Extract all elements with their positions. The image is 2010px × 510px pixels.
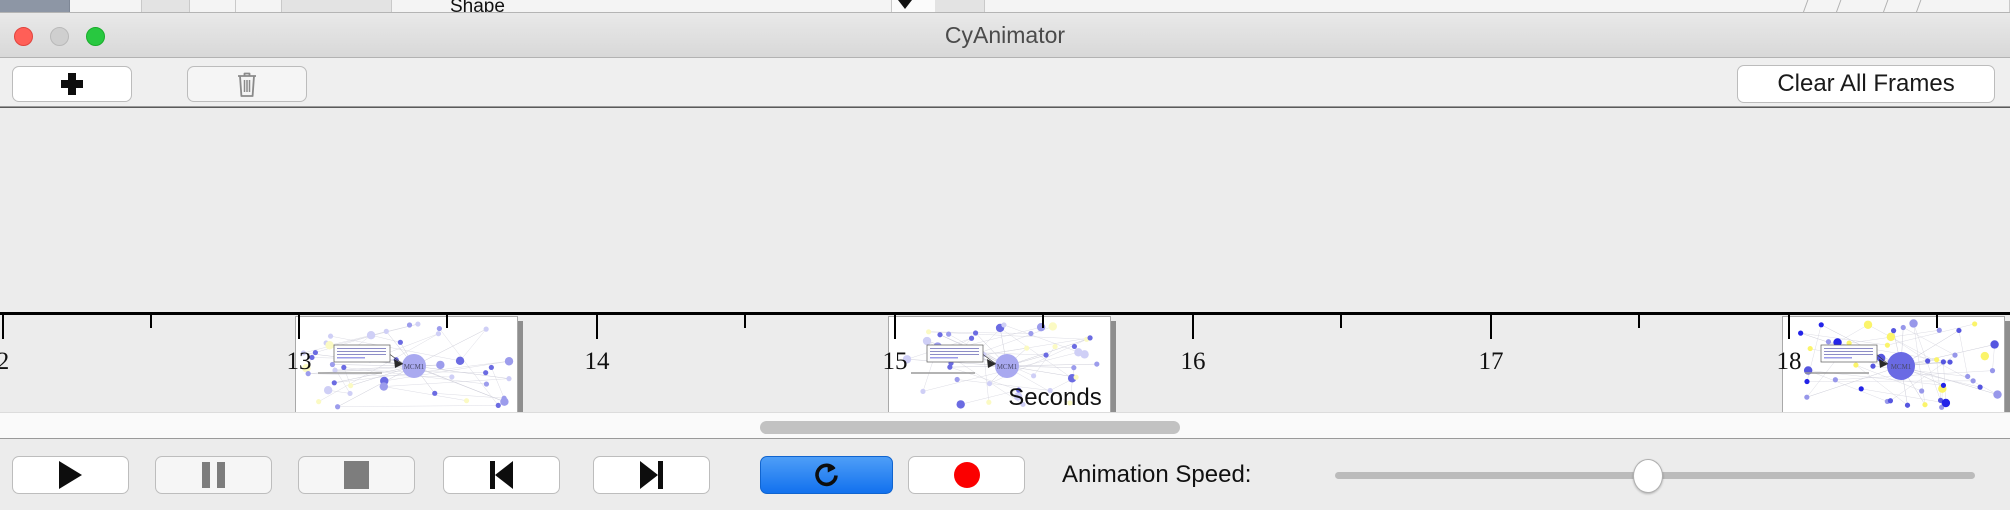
clear-all-frames-label: Clear All Frames	[1777, 70, 1954, 98]
axis-tick-label: 13	[287, 348, 312, 376]
record-button[interactable]	[908, 456, 1025, 494]
axis-title: Seconds	[0, 384, 2010, 412]
axis-tick	[1490, 315, 1492, 339]
stop-button[interactable]	[298, 456, 415, 494]
skip-next-icon	[640, 461, 663, 489]
bg-cell	[70, 0, 142, 13]
play-icon	[59, 461, 82, 489]
axis-tick	[150, 315, 152, 328]
axis-tick-label: 17	[1479, 348, 1504, 376]
timeline-axis	[0, 312, 2010, 315]
axis-tick	[446, 315, 448, 328]
axis-tick	[298, 315, 300, 339]
toolbar: Clear All Frames	[0, 58, 2010, 107]
axis-tick	[1788, 315, 1790, 339]
axis-tick-label: 2	[0, 348, 9, 376]
axis-tick	[1936, 315, 1938, 328]
axis-tick-label: 18	[1777, 348, 1802, 376]
loop-icon	[813, 460, 841, 490]
hub-node-label: MCM1	[404, 363, 425, 371]
bg-cell	[190, 0, 236, 13]
axis-tick-label: 14	[585, 348, 610, 376]
plus-icon	[61, 73, 83, 95]
window-title: CyAnimator	[0, 13, 2010, 58]
bg-sort-triangle-icon	[898, 0, 912, 9]
axis-tick	[1340, 315, 1342, 328]
play-button[interactable]	[12, 456, 129, 494]
stop-icon	[344, 461, 369, 489]
axis-tick	[2, 315, 4, 339]
background-window-sliver: Shape	[0, 0, 2010, 13]
pause-icon	[202, 462, 225, 488]
axis-tick	[596, 315, 598, 339]
skip-previous-icon	[490, 461, 513, 489]
clear-all-frames-button[interactable]: Clear All Frames	[1737, 65, 1995, 103]
title-bar: CyAnimator	[0, 13, 2010, 58]
bg-cell	[0, 0, 70, 13]
bg-cell	[236, 0, 282, 13]
pause-button[interactable]	[155, 456, 272, 494]
axis-tick	[744, 315, 746, 328]
hub-node-label: MCM1	[997, 363, 1018, 371]
bg-window-text: Shape	[450, 0, 505, 13]
hub-node-label: MCM1	[1891, 363, 1912, 371]
bg-cell	[985, 0, 2010, 13]
playback-controls: Animation Speed:	[0, 439, 2010, 510]
skip-previous-button[interactable]	[443, 456, 560, 494]
timeline-panel[interactable]: MCM1MCM1MCM1 2131415161718 Seconds	[0, 107, 2010, 412]
axis-tick	[894, 315, 896, 339]
bg-cell	[935, 0, 985, 13]
scrollbar-thumb[interactable]	[760, 421, 1180, 434]
delete-frame-button[interactable]	[187, 66, 307, 102]
axis-tick	[1192, 315, 1194, 339]
bg-cell	[282, 0, 392, 13]
skip-next-button[interactable]	[593, 456, 710, 494]
axis-tick	[1638, 315, 1640, 328]
record-icon	[954, 462, 980, 488]
bg-cell	[142, 0, 190, 13]
animation-speed-slider-thumb[interactable]	[1633, 459, 1663, 493]
loop-button[interactable]	[760, 456, 893, 494]
add-frame-button[interactable]	[12, 66, 132, 102]
axis-tick-label: 16	[1181, 348, 1206, 376]
axis-tick-label: 15	[883, 348, 908, 376]
animation-speed-label: Animation Speed:	[1062, 456, 1251, 494]
trash-icon	[235, 70, 259, 98]
timeline-scrollbar[interactable]	[0, 412, 2010, 439]
axis-tick	[1042, 315, 1044, 328]
